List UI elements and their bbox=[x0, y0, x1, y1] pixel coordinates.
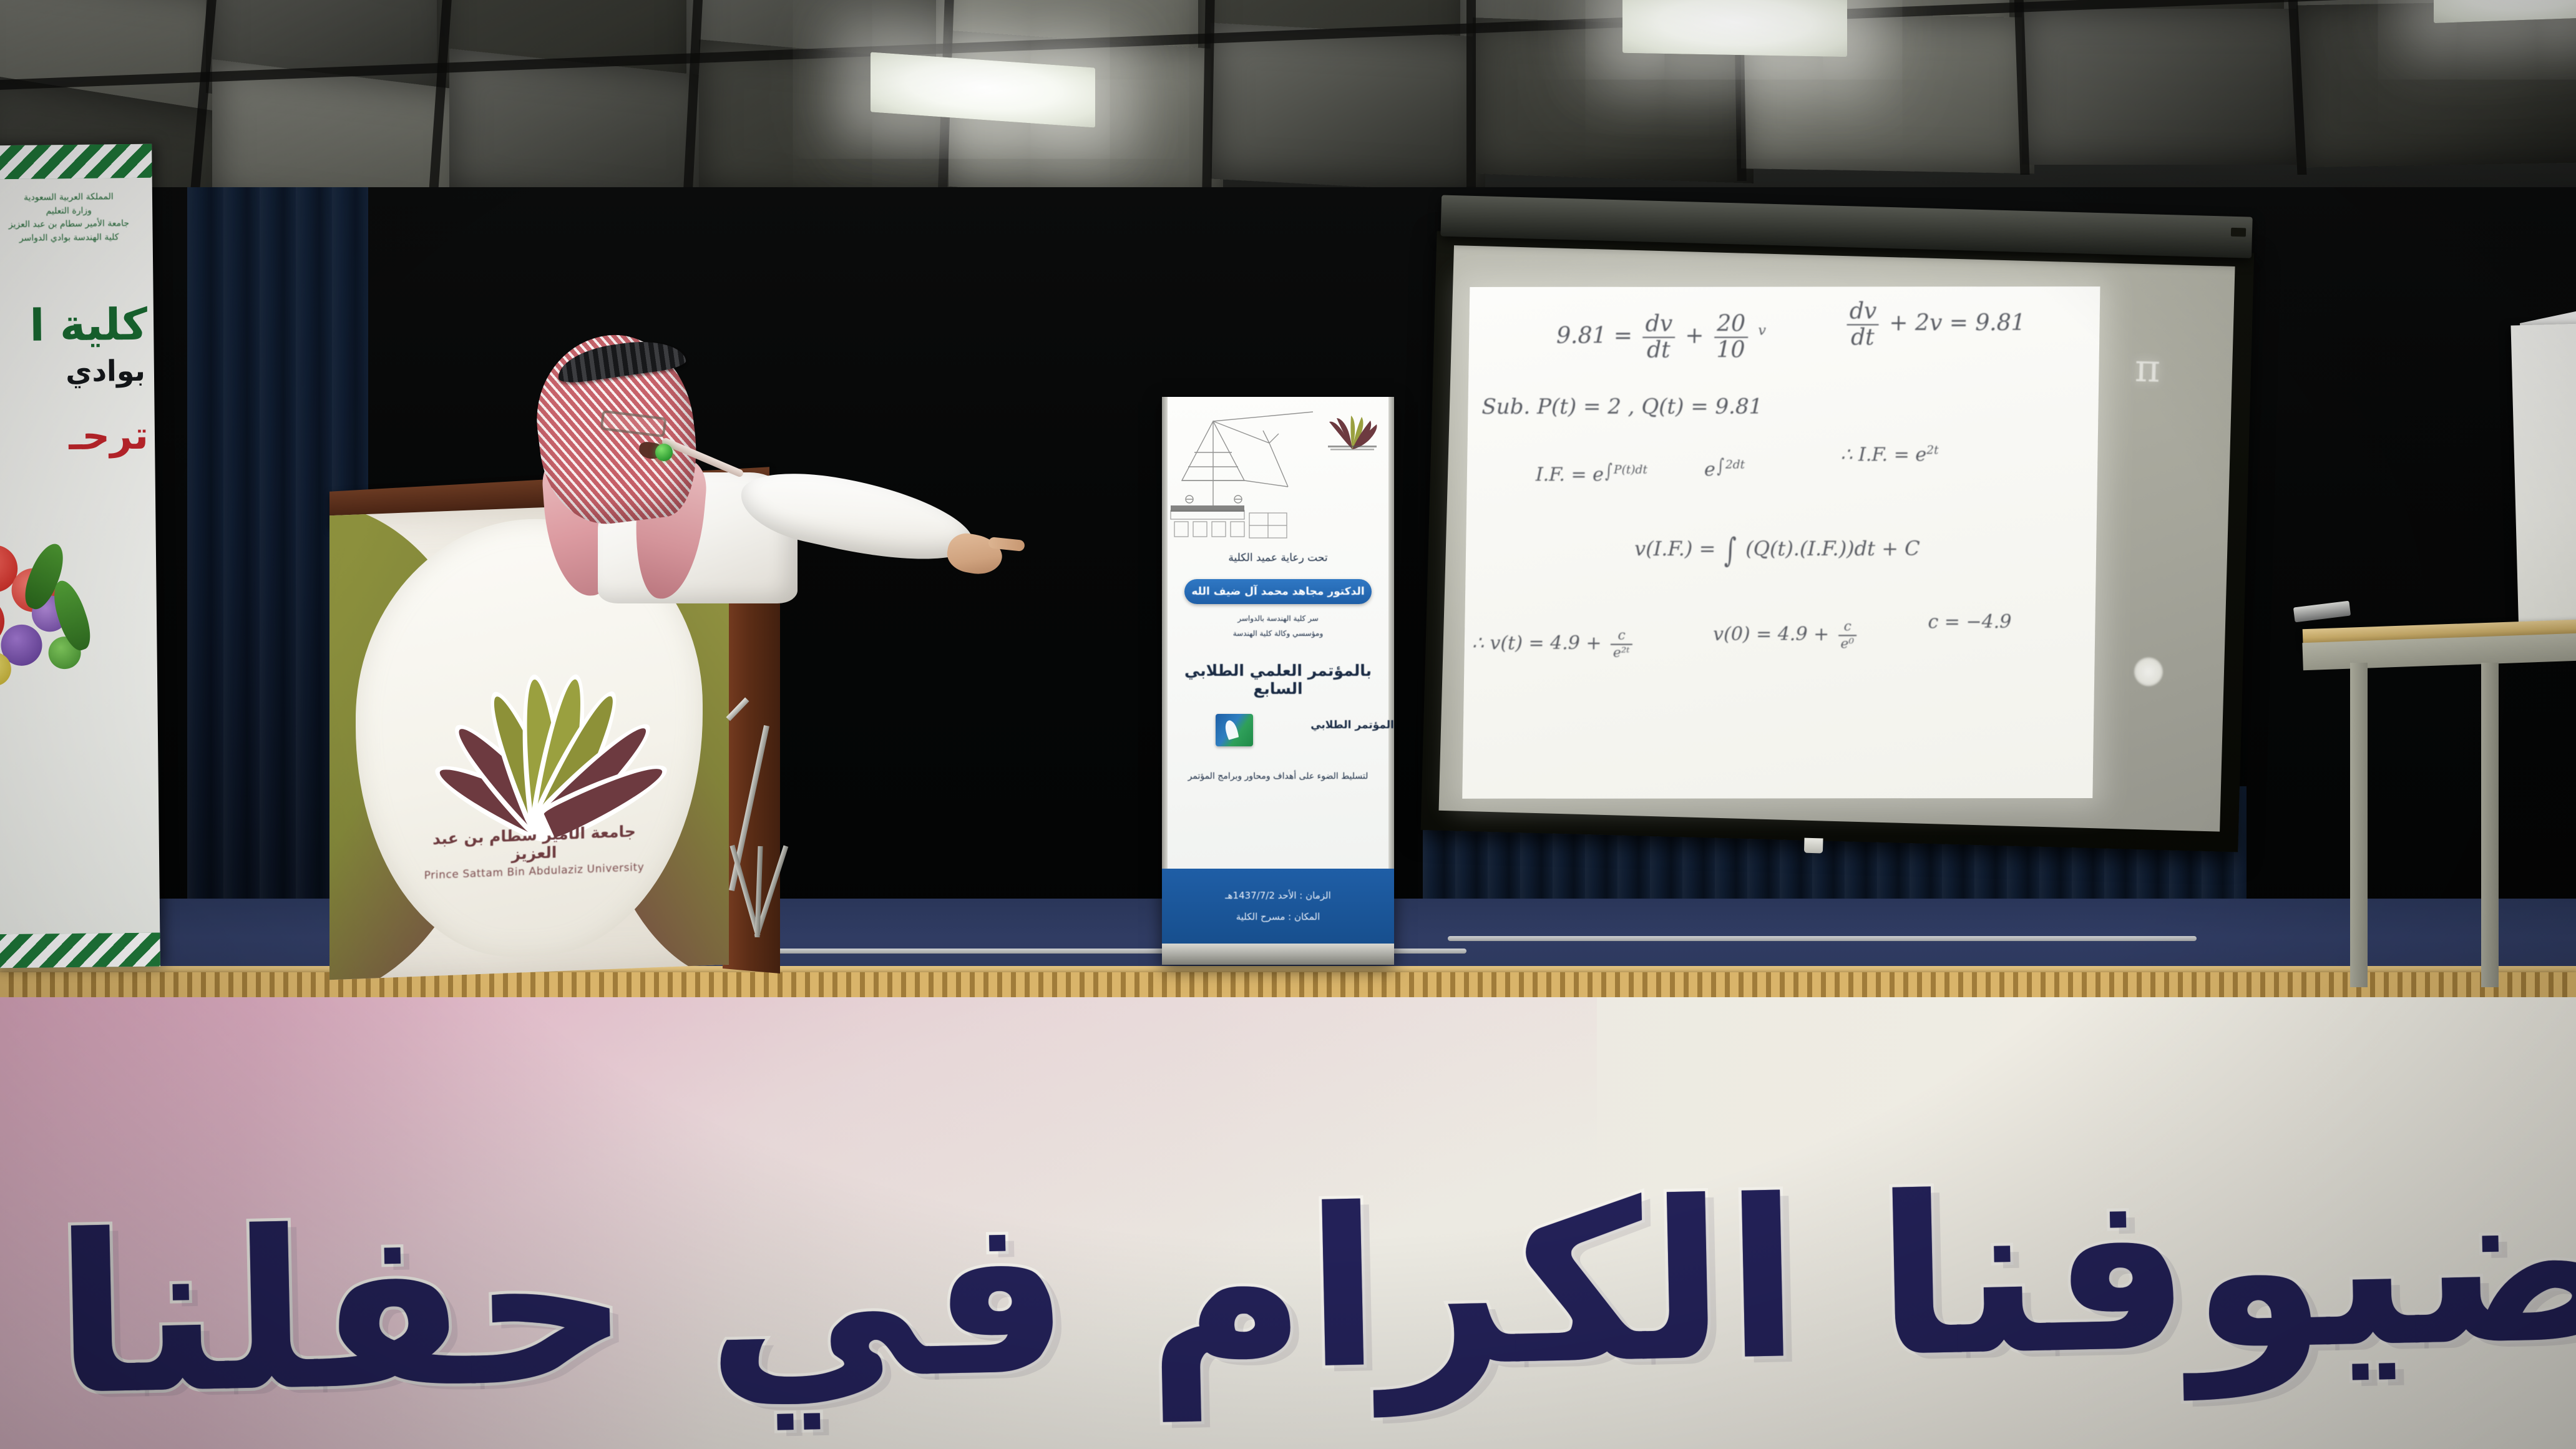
rollup-event-title: بالمؤتمر العلمي الطلابي السابع bbox=[1162, 661, 1394, 698]
banner-band-bottom bbox=[0, 933, 160, 968]
rollup-conference-logo-text: المؤتمر الطلابي bbox=[1251, 719, 1394, 731]
welcome-banner: المملكة العربية السعودية وزارة التعليم ج… bbox=[0, 144, 160, 968]
banner-header-line-3: جامعة الأمير سطام بن عبد العزيز bbox=[0, 217, 153, 232]
banner-subtitle: بوادي bbox=[0, 354, 145, 389]
engineering-sketch-graphic bbox=[1169, 406, 1325, 549]
flower-bouquet-graphic bbox=[0, 519, 97, 726]
equation-line-4: v(I.F.) = ∫ (Q(t).(I.F.))dt + C bbox=[1634, 531, 1920, 569]
equation-line-3c: ∴ I.F. = e2t bbox=[1840, 444, 1939, 466]
projection-screen: 9.81 = dv dt + 20 10 v bbox=[1419, 195, 2260, 861]
dot-symbol-spill bbox=[2134, 657, 2163, 686]
screen-pull-tab[interactable] bbox=[1804, 838, 1823, 854]
ceiling-light-panel bbox=[1622, 0, 1847, 57]
presenter bbox=[499, 340, 973, 602]
banner-title: كلية ا bbox=[0, 299, 148, 352]
microphone-head bbox=[655, 444, 673, 461]
equation-line-5a: ∴ v(t) = 4.9 + c e²ᵗ bbox=[1471, 629, 1636, 660]
equation-line-1-left: 9.81 = dv dt + 20 10 v bbox=[1556, 313, 1767, 362]
rollup-honoree-pill: الدكتور مجاهد محمد آل ضيف الله bbox=[1184, 579, 1372, 604]
rollup-footer-bar: الزمان : الأحد 1437/7/2هـ المكان : مسرح … bbox=[1162, 869, 1394, 944]
banner-header-line-4: كلية الهندسة بوادي الدواسر bbox=[0, 231, 153, 246]
equation-line-3b: e∫2dt bbox=[1704, 456, 1745, 481]
screen-surface: 9.81 = dv dt + 20 10 v bbox=[1439, 245, 2235, 832]
ceiling bbox=[0, 0, 2576, 206]
banner-welcome-word: ترحـ bbox=[0, 412, 149, 461]
student-conference-logo bbox=[1216, 714, 1253, 746]
ceiling-coffer bbox=[1211, 22, 1485, 193]
white-display-board bbox=[2510, 324, 2576, 638]
ceiling-coffer bbox=[2022, 9, 2315, 165]
projected-slide: 9.81 = dv dt + 20 10 v bbox=[1462, 286, 2100, 799]
rollup-footer-line-1: الزمان : الأحد 1437/7/2هـ bbox=[1162, 890, 1394, 901]
pi-symbol-spill: π bbox=[2134, 345, 2161, 391]
equation-line-2: Sub. P(t) = 2 , Q(t) = 9.81 bbox=[1481, 394, 1762, 419]
screen-black-border: 9.81 = dv dt + 20 10 v bbox=[1421, 231, 2254, 852]
banner-header-line-2: وزارة التعليم bbox=[0, 203, 152, 218]
rollup-subtitle-line-1: سر كلية الهندسة بالدواسر bbox=[1162, 614, 1394, 623]
ceiling-coffer bbox=[449, 49, 711, 206]
equation-line-3a: I.F. = e∫P(t)dt bbox=[1536, 461, 1648, 486]
rollup-tagline: لتسليط الضوء على أهداف ومحاور وبرامج الم… bbox=[1162, 771, 1394, 781]
banner-header-block: المملكة العربية السعودية وزارة التعليم ج… bbox=[0, 190, 153, 246]
floor-cable bbox=[1448, 936, 2197, 941]
rollup-honoree-name: الدكتور مجاهد محمد آل ضيف الله bbox=[1184, 579, 1372, 604]
rollup-patronage-line: تحت رعاية عميد الكلية bbox=[1162, 552, 1394, 564]
side-table-leg bbox=[2481, 663, 2499, 987]
equation-line-5c: c = −4.9 bbox=[1928, 611, 2011, 633]
rollup-footer-line-2: المكان : مسرح الكلية bbox=[1162, 911, 1394, 922]
rollup-subtitle-line-2: ومؤسسي وكالة كلية الهندسة bbox=[1162, 629, 1394, 638]
front-banner-text: ضيوفنا الكرام في حفلنا المبـ bbox=[0, 1153, 2576, 1428]
university-name-arabic: جامعة الأمير سطام بن عبد العزيز bbox=[409, 821, 659, 867]
university-caption: جامعة الأمير سطام بن عبد العزيز Prince S… bbox=[409, 821, 659, 882]
slide-content: 9.81 = dv dt + 20 10 v bbox=[1462, 286, 2100, 799]
stage-front-welcome-banner: ضيوفنا الكرام في حفلنا المبـ bbox=[0, 997, 2576, 1449]
equation-line-1-right: dv dt + 2v = 9.81 bbox=[1843, 300, 2026, 349]
ceiling-coffer bbox=[2296, 0, 2576, 168]
rollup-university-logo bbox=[1319, 413, 1385, 452]
photo-scene: المملكة العربية السعودية وزارة التعليم ج… bbox=[0, 0, 2576, 1449]
side-table-leg bbox=[2350, 663, 2368, 987]
equation-line-5b: v(0) = 4.9 + c e⁰ bbox=[1713, 620, 1860, 650]
ceiling-rib bbox=[1466, 0, 1476, 187]
screen-roller-end-cap bbox=[2231, 228, 2246, 237]
prince-sattam-university-logo: جامعة الأمير سطام بن عبد العزيز Prince S… bbox=[409, 615, 659, 831]
banner-band-top bbox=[0, 144, 152, 180]
rollup-base-foot bbox=[1162, 944, 1394, 965]
conference-rollup-banner: تحت رعاية عميد الكلية الدكتور مجاهد محمد… bbox=[1162, 397, 1394, 965]
banner-header-line-1: المملكة العربية السعودية bbox=[0, 190, 152, 205]
